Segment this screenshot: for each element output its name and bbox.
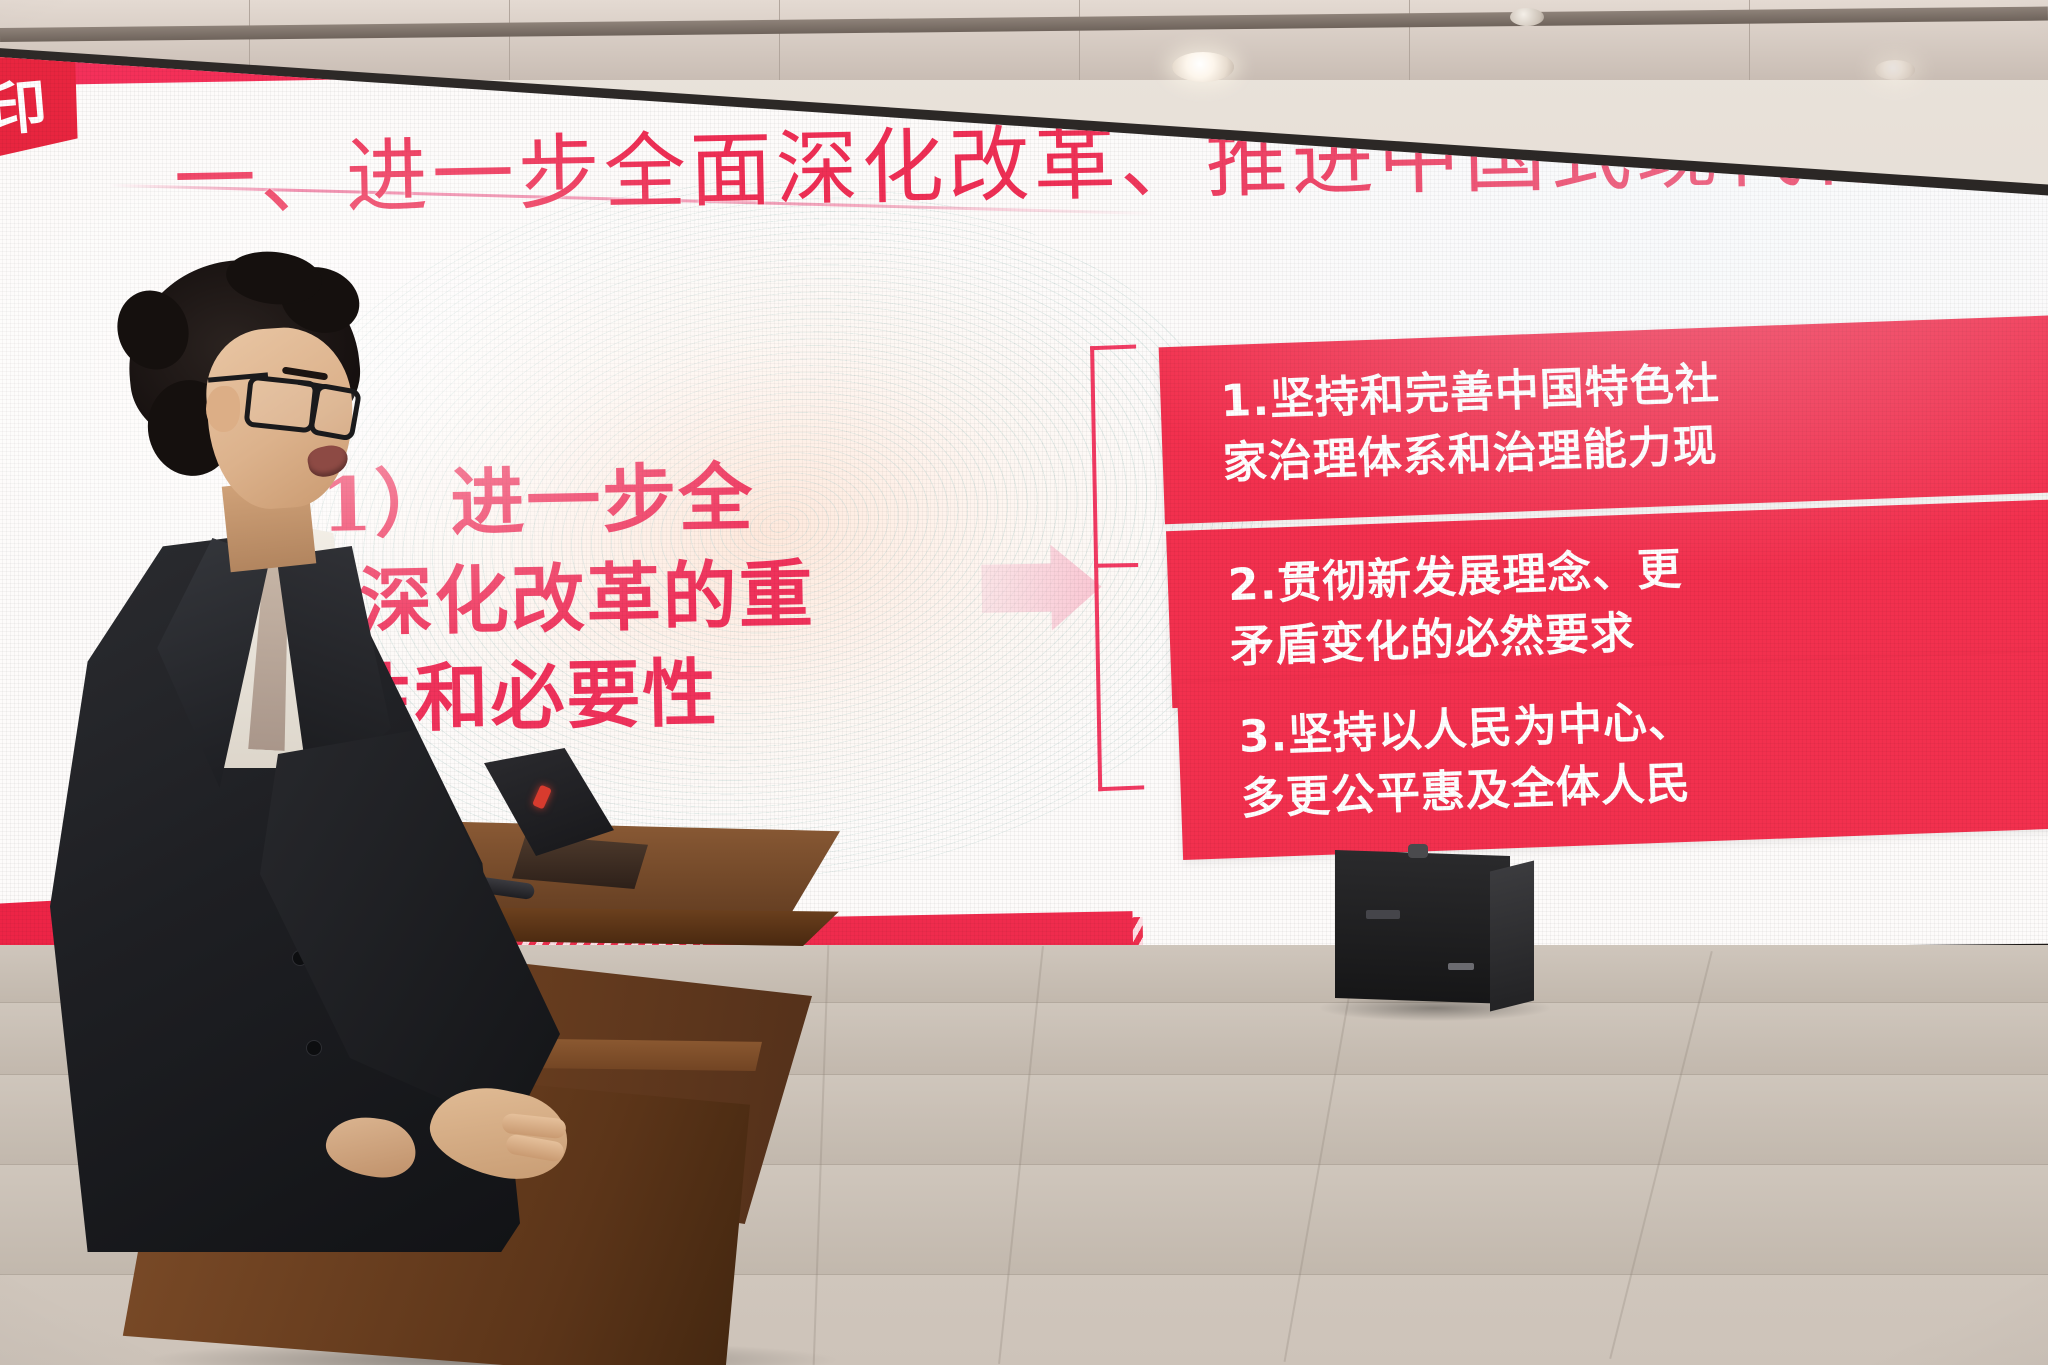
eyeglasses-icon: [308, 382, 362, 441]
ear: [206, 386, 240, 432]
bullet-text-2a: 贯彻新发展理念、更: [1276, 544, 1683, 609]
photo-scene: 印 一、进一步全面深化改革、推进中国式现代化的重大意义和 （1）进一步全 面深化…: [0, 0, 2048, 1365]
floor-speaker-box: [1335, 850, 1510, 1004]
bullet-number-1: 1.: [1220, 374, 1271, 427]
brace-bracket: [1090, 344, 1144, 791]
brace-bracket-stub: [1094, 563, 1138, 568]
bullet-number-3: 3.: [1238, 710, 1289, 763]
speaker-knob-icon: [1408, 844, 1428, 858]
bullet-box-3: 3.坚持以人民为中心、 多更公平惠及全体人民: [1177, 647, 2048, 860]
presenter: [30, 250, 590, 1365]
bullet-number-2: 2.: [1227, 558, 1278, 611]
bullet-box-1: 1.坚持和完善中国特色社 家治理体系和治理能力现: [1159, 311, 2048, 524]
bullet-text-1a: 坚持和完善中国特色社: [1269, 358, 1721, 425]
bullet-text-2b: 矛盾变化的必然要求: [1229, 608, 1636, 673]
slide-heading: 一、进一步全面深化改革、推进中国式现代化的重大意义和: [173, 102, 2048, 225]
bullet-text-1b: 家治理体系和治理能力现: [1222, 421, 1719, 490]
jacket-button: [306, 1040, 322, 1056]
speaker-port-icon: [1366, 910, 1400, 919]
bullet-text-3b: 多更公平惠及全体人民: [1240, 758, 1692, 825]
floor-speaker-side: [1490, 861, 1534, 1012]
bullet-text-3a: 坚持以人民为中心、: [1287, 696, 1694, 761]
ribbon-hatch-right: [1086, 24, 1886, 46]
speaker-badge: [1448, 963, 1474, 970]
